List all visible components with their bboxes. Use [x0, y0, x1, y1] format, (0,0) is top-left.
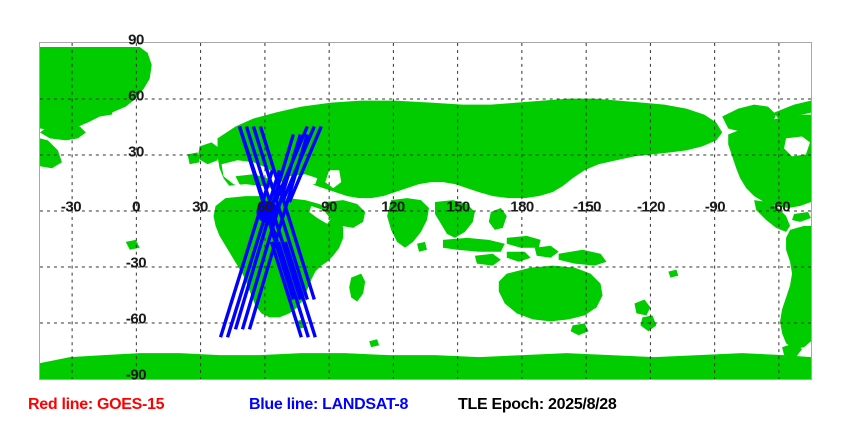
world-map-plot: [39, 42, 812, 380]
lon-tick-120: 120: [381, 199, 405, 216]
lat-tick-90: 90: [128, 32, 144, 49]
lat-tick-30: 30: [128, 144, 144, 161]
lon-tick-60: 60: [257, 199, 273, 216]
lon-tick-180: 180: [510, 199, 534, 216]
satellite-track-map-app: -30 0 30 60 90 120 150 180 -150 -120 -90…: [0, 0, 850, 425]
legend-red-line-goes-15: Red line: GOES-15: [28, 396, 164, 414]
satellite-tracks-layer: [40, 43, 811, 379]
lon-tick-150: 150: [446, 199, 470, 216]
map-legend: Red line: GOES-15 Blue line: LANDSAT-8 T…: [0, 396, 850, 420]
lat-tick--60: -60: [126, 311, 146, 328]
landsat-8-track: [221, 127, 322, 338]
lon-tick-30: 30: [192, 199, 208, 216]
lat-tick--90: -90: [126, 367, 146, 384]
legend-tle-epoch: TLE Epoch: 2025/8/28: [458, 396, 617, 414]
lat-tick-60: 60: [128, 88, 144, 105]
lat-tick-0: 0: [132, 199, 140, 216]
lon-tick--90: -90: [705, 199, 725, 216]
lon-tick-90: 90: [321, 199, 337, 216]
lon-tick--30: -30: [61, 199, 81, 216]
lon-tick--60: -60: [770, 199, 790, 216]
lon-tick--150: -150: [573, 199, 601, 216]
lat-tick--30: -30: [126, 255, 146, 272]
lon-tick--120: -120: [637, 199, 665, 216]
legend-blue-line-landsat-8: Blue line: LANDSAT-8: [249, 396, 408, 414]
